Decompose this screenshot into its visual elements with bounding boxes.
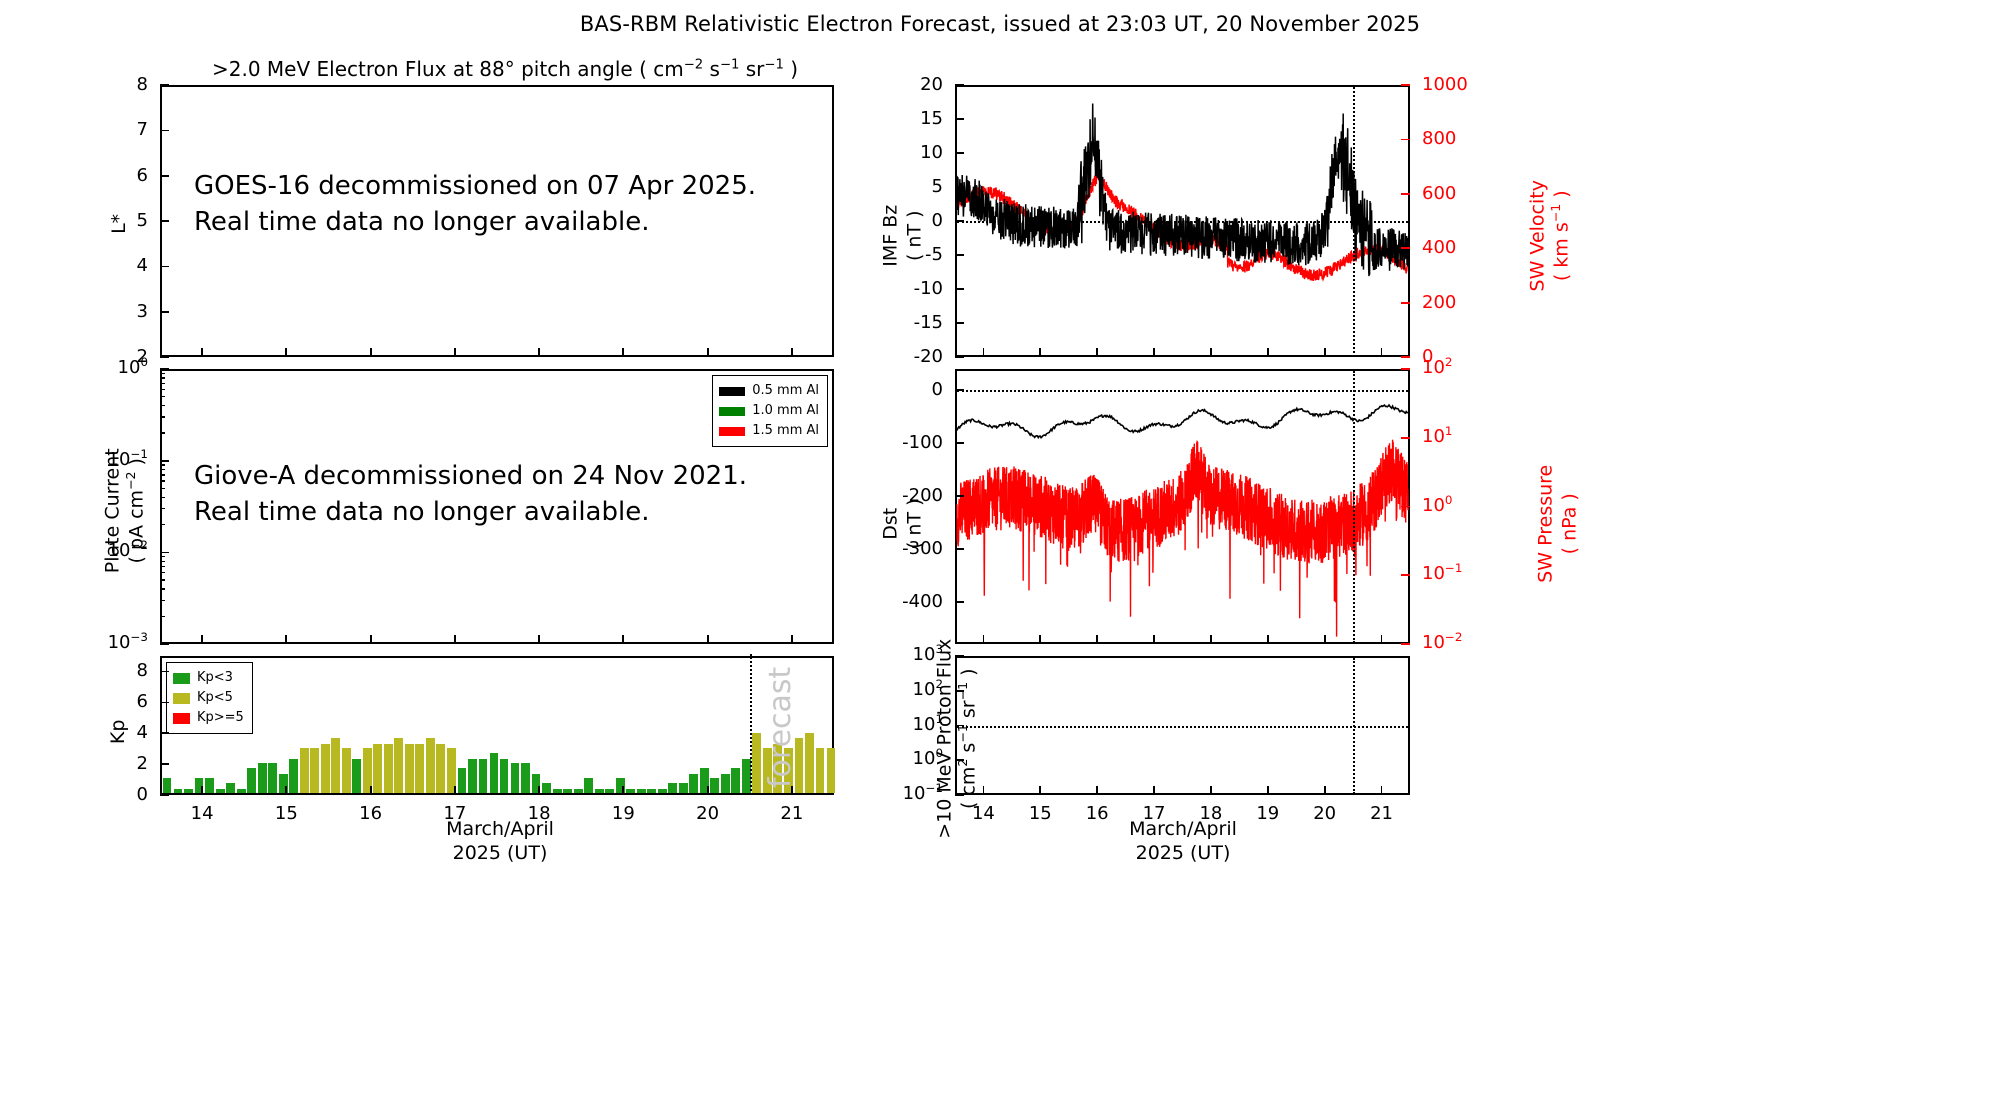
axis-tick-label: -400 xyxy=(902,591,943,612)
axis-tick-label: 19 xyxy=(1256,803,1279,824)
axis-tick xyxy=(622,786,624,795)
kp-bar xyxy=(247,768,256,794)
kp-bar xyxy=(310,748,319,793)
axis-minor-tick xyxy=(160,566,165,567)
axis-tick xyxy=(1401,506,1410,508)
axis-tick-label: 800 xyxy=(1422,128,1456,149)
legend-label: 1.0 mm Al xyxy=(752,401,819,421)
axis-tick-label: 102 xyxy=(913,679,943,700)
axis-tick xyxy=(983,348,985,357)
legend-swatch-icon xyxy=(719,387,745,396)
forecast-watermark: forecast xyxy=(763,667,798,788)
axis-tick xyxy=(160,460,169,462)
axis-tick xyxy=(955,601,964,603)
axis-tick-label: 10−3 xyxy=(108,632,148,653)
axis-tick xyxy=(1267,635,1269,644)
kp-bar xyxy=(458,768,467,794)
forecast-divider xyxy=(1353,658,1355,794)
axis-tick-label: -300 xyxy=(902,538,943,559)
axis-minor-tick xyxy=(160,524,165,525)
legend-label: 1.5 mm Al xyxy=(752,421,819,441)
axis-tick-label: 16 xyxy=(1086,803,1109,824)
axis-tick xyxy=(955,356,964,358)
legend-swatch-icon xyxy=(719,427,745,436)
axis-tick xyxy=(983,635,985,644)
forecast-divider xyxy=(1353,371,1355,643)
axis-tick xyxy=(1210,635,1212,644)
axis-tick-label: -100 xyxy=(902,432,943,453)
axis-tick-label: 21 xyxy=(780,803,803,824)
axis-tick xyxy=(160,763,169,765)
kp-bar xyxy=(300,748,309,793)
axis-tick-label: -15 xyxy=(914,312,943,333)
kp-bar xyxy=(352,759,361,794)
axis-minor-tick xyxy=(160,561,165,562)
left-xaxis-label: March/April2025 (UT) xyxy=(360,818,640,866)
axis-tick xyxy=(160,130,169,132)
axis-tick-label: -10 xyxy=(914,278,943,299)
axis-tick xyxy=(1267,786,1269,795)
axis-tick xyxy=(791,635,793,644)
axis-tick xyxy=(1401,574,1410,576)
axis-tick-label: 400 xyxy=(1422,237,1456,258)
kp-bar xyxy=(679,783,688,794)
axis-minor-tick xyxy=(160,464,165,465)
axis-tick xyxy=(707,786,709,795)
axis-minor-tick xyxy=(160,474,165,475)
axis-tick-label: 4 xyxy=(137,722,148,743)
kp-bar xyxy=(827,748,836,793)
kp-bar xyxy=(268,763,277,793)
kp-bar xyxy=(574,789,583,794)
axis-tick xyxy=(1153,348,1155,357)
axis-tick xyxy=(1267,348,1269,357)
axis-tick xyxy=(160,702,169,704)
kp-bar xyxy=(721,774,730,794)
kp-bar xyxy=(689,774,698,794)
imf-bz-series xyxy=(957,104,1408,277)
axis-minor-tick xyxy=(160,556,165,557)
axis-tick-label: 10 xyxy=(920,142,943,163)
axis-tick-label: 16 xyxy=(359,803,382,824)
axis-minor-tick xyxy=(160,373,165,374)
kp-bar xyxy=(174,789,183,794)
axis-tick xyxy=(538,635,540,644)
axis-tick xyxy=(955,548,964,550)
axis-tick-label: 18 xyxy=(528,803,551,824)
kp-bar xyxy=(605,789,614,794)
axis-tick xyxy=(955,495,964,497)
axis-tick xyxy=(1401,368,1410,370)
axis-tick-label: 10−2 xyxy=(1422,632,1462,653)
axis-tick-label: 0 xyxy=(932,379,943,400)
axis-tick xyxy=(160,84,169,86)
axis-tick xyxy=(955,759,964,761)
axis-tick xyxy=(370,348,372,357)
legend-label: 0.5 mm Al xyxy=(752,381,819,401)
axis-minor-tick xyxy=(160,469,165,470)
electron-flux-panel: GOES-16 decommissioned on 07 Apr 2025.Re… xyxy=(160,85,834,357)
kp-bar xyxy=(710,778,719,793)
axis-tick xyxy=(1210,348,1212,357)
axis-tick xyxy=(1401,643,1410,645)
axis-minor-tick xyxy=(160,405,165,406)
axis-tick xyxy=(160,732,169,734)
kp-bar xyxy=(321,744,330,794)
axis-tick xyxy=(1324,635,1326,644)
kp-bar xyxy=(521,763,530,793)
axis-tick-label: 3 xyxy=(137,301,148,322)
axis-tick xyxy=(285,348,287,357)
kp-bar xyxy=(542,783,551,794)
axis-tick xyxy=(1039,786,1041,795)
axis-tick-label: 7 xyxy=(137,119,148,140)
kp-bar xyxy=(553,789,562,794)
axis-tick xyxy=(160,794,169,796)
axis-tick-label: 15 xyxy=(920,108,943,129)
axis-tick xyxy=(955,442,964,444)
kp-bar xyxy=(237,789,246,794)
axis-tick xyxy=(1039,348,1041,357)
axis-tick xyxy=(160,175,169,177)
axis-minor-tick xyxy=(160,600,165,601)
axis-tick-label: 101 xyxy=(913,714,943,735)
axis-tick xyxy=(160,311,169,313)
legend-item: 0.5 mm Al xyxy=(719,381,819,401)
axis-tick xyxy=(454,348,456,357)
axis-tick-label: 100 xyxy=(913,748,943,769)
kp-bar xyxy=(647,789,656,794)
plate-current-ylabel: Plate Current( pA cm−2 ) xyxy=(101,411,149,611)
kp-bar xyxy=(468,759,477,794)
axis-tick xyxy=(955,322,964,324)
axis-tick-label: -20 xyxy=(914,346,943,367)
sw-pressure-ylabel: SW Pressure( nPa ) xyxy=(1534,424,1582,624)
axis-tick xyxy=(370,635,372,644)
axis-tick-label: 14 xyxy=(972,803,995,824)
axis-tick xyxy=(955,794,964,796)
plate-current-panel: Giove-A decommissioned on 24 Nov 2021.Re… xyxy=(160,369,834,644)
kp-ylabel: Kp xyxy=(107,709,131,755)
axis-tick-label: 10−2 xyxy=(108,540,148,561)
axis-tick-label: 20 xyxy=(696,803,719,824)
kp-bar xyxy=(816,748,825,793)
kp-bar xyxy=(373,744,382,794)
axis-tick xyxy=(1381,635,1383,644)
kp-bar xyxy=(426,738,435,794)
axis-tick-label: 15 xyxy=(1029,803,1052,824)
axis-tick xyxy=(160,266,169,268)
axis-tick-label: 14 xyxy=(191,803,214,824)
axis-tick xyxy=(955,288,964,290)
forecast-divider xyxy=(750,654,752,795)
kp-bar xyxy=(163,778,172,793)
kp-bar xyxy=(184,789,193,794)
axis-minor-tick xyxy=(160,480,165,481)
axis-tick-label: 6 xyxy=(137,165,148,186)
axis-tick-label: 10−1 xyxy=(1422,563,1462,584)
axis-tick-label: 10−1 xyxy=(108,449,148,470)
axis-minor-tick xyxy=(160,389,165,390)
axis-tick xyxy=(955,152,964,154)
axis-tick-label: 10−1 xyxy=(903,783,943,804)
electron-flux-message: GOES-16 decommissioned on 07 Apr 2025.Re… xyxy=(194,169,756,241)
axis-tick xyxy=(1096,348,1098,357)
zero-line xyxy=(957,221,1408,223)
axis-tick xyxy=(201,786,203,795)
axis-tick xyxy=(1153,786,1155,795)
kp-bar xyxy=(205,778,214,793)
legend-item: 1.5 mm Al xyxy=(719,421,819,441)
axis-minor-tick xyxy=(160,416,165,417)
axis-minor-tick xyxy=(160,432,165,433)
axis-minor-tick xyxy=(160,579,165,580)
sw-pressure-series xyxy=(957,440,1408,637)
axis-tick-label: 101 xyxy=(1422,426,1452,447)
legend-swatch-icon xyxy=(719,407,745,416)
axis-tick xyxy=(791,348,793,357)
axis-tick-label: 19 xyxy=(612,803,635,824)
kp-bar xyxy=(289,759,298,794)
axis-tick xyxy=(201,348,203,357)
kp-bar xyxy=(658,789,667,794)
axis-tick xyxy=(454,635,456,644)
kp-bar xyxy=(226,783,235,794)
axis-tick xyxy=(1401,139,1410,141)
electron-flux-ylabel: L* xyxy=(108,204,132,244)
axis-tick xyxy=(1039,635,1041,644)
kp-bar xyxy=(216,789,225,794)
axis-tick xyxy=(1096,786,1098,795)
axis-tick-label: 8 xyxy=(137,660,148,681)
axis-minor-tick xyxy=(160,588,165,589)
axis-tick-label: 0 xyxy=(932,210,943,231)
axis-tick-label: 17 xyxy=(1143,803,1166,824)
axis-tick xyxy=(1381,348,1383,357)
axis-tick-label: 600 xyxy=(1422,183,1456,204)
axis-tick-label: 21 xyxy=(1370,803,1393,824)
dst-series xyxy=(957,405,1408,438)
kp-bar xyxy=(563,789,572,794)
axis-tick xyxy=(707,635,709,644)
electron-flux-subtitle: >2.0 MeV Electron Flux at 88° pitch angl… xyxy=(212,57,798,81)
axis-tick-label: 2 xyxy=(137,753,148,774)
axis-minor-tick xyxy=(160,497,165,498)
axis-tick xyxy=(454,786,456,795)
axis-tick-label: 103 xyxy=(913,644,943,665)
axis-tick xyxy=(160,368,169,370)
axis-tick-label: 6 xyxy=(137,691,148,712)
axis-tick xyxy=(538,348,540,357)
kp-bar xyxy=(342,748,351,793)
kp-bar xyxy=(258,763,267,793)
axis-tick xyxy=(955,655,964,657)
axis-tick xyxy=(285,635,287,644)
axis-tick xyxy=(1401,84,1410,86)
axis-tick-label: 102 xyxy=(1422,357,1452,378)
axis-minor-tick xyxy=(160,488,165,489)
kp-bar xyxy=(415,744,424,794)
kp-bar xyxy=(584,778,593,793)
axis-tick xyxy=(1401,302,1410,304)
axis-tick xyxy=(955,118,964,120)
sw-velocity-ylabel: SW Velocity( km s−1 ) xyxy=(1526,141,1574,331)
kp-bar xyxy=(384,744,393,794)
axis-tick xyxy=(1153,635,1155,644)
kp-bar xyxy=(752,733,761,793)
axis-tick xyxy=(955,690,964,692)
axis-tick xyxy=(955,186,964,188)
axis-tick xyxy=(1324,348,1326,357)
kp-bar xyxy=(490,753,499,794)
axis-tick xyxy=(622,348,624,357)
axis-tick-label: -200 xyxy=(902,485,943,506)
axis-tick xyxy=(1401,356,1410,358)
axis-tick xyxy=(1381,786,1383,795)
kp-bar xyxy=(394,738,403,794)
kp-bar xyxy=(436,744,445,794)
axis-tick-label: 15 xyxy=(275,803,298,824)
axis-minor-tick xyxy=(160,616,165,617)
axis-tick xyxy=(1401,247,1410,249)
axis-tick-label: 17 xyxy=(443,803,466,824)
kp-bar xyxy=(668,783,677,794)
axis-tick xyxy=(538,786,540,795)
axis-tick xyxy=(160,356,169,358)
axis-minor-tick xyxy=(160,572,165,573)
axis-tick xyxy=(622,635,624,644)
axis-tick xyxy=(791,786,793,795)
axis-tick-label: 0 xyxy=(137,784,148,805)
axis-tick-label: 1000 xyxy=(1422,74,1468,95)
zero-line xyxy=(957,390,1408,392)
axis-tick xyxy=(1324,786,1326,795)
axis-tick-label: 8 xyxy=(137,74,148,95)
axis-tick-label: 200 xyxy=(1422,292,1456,313)
threshold-line xyxy=(957,726,1408,728)
kp-bar xyxy=(731,768,740,794)
legend-item: 1.0 mm Al xyxy=(719,401,819,421)
axis-tick-label: 4 xyxy=(137,255,148,276)
axis-tick xyxy=(160,220,169,222)
kp-bar xyxy=(500,759,509,794)
forecast-divider xyxy=(1353,87,1355,357)
kp-bar xyxy=(805,733,814,793)
axis-tick-label: 20 xyxy=(1313,803,1336,824)
kp-bar xyxy=(595,789,604,794)
axis-tick-label: -5 xyxy=(925,244,943,265)
axis-minor-tick xyxy=(160,383,165,384)
axis-tick-label: 18 xyxy=(1199,803,1222,824)
kp-bar xyxy=(479,759,488,794)
axis-tick xyxy=(955,84,964,86)
axis-tick-label: 100 xyxy=(118,357,148,378)
right-xaxis-label: March/April2025 (UT) xyxy=(1043,818,1323,866)
kp-panel: Kp<3 Kp<5 Kp>=5 forecast xyxy=(160,656,834,795)
axis-minor-tick xyxy=(160,396,165,397)
axis-tick-label: 20 xyxy=(920,74,943,95)
axis-tick xyxy=(285,786,287,795)
axis-tick xyxy=(160,671,169,673)
axis-tick xyxy=(1401,437,1410,439)
axis-tick xyxy=(1401,193,1410,195)
axis-tick-label: 5 xyxy=(137,210,148,231)
dst-plot xyxy=(957,371,1408,642)
axis-tick xyxy=(1210,786,1212,795)
dst-panel xyxy=(955,369,1410,644)
axis-minor-tick xyxy=(160,508,165,509)
axis-tick xyxy=(201,635,203,644)
axis-tick-label: 100 xyxy=(1422,495,1452,516)
page-title: BAS-RBM Relativistic Electron Forecast, … xyxy=(0,12,2000,36)
axis-tick xyxy=(955,254,964,256)
kp-bar xyxy=(331,738,340,794)
axis-tick xyxy=(160,552,169,554)
axis-minor-tick xyxy=(160,377,165,378)
kp-bar xyxy=(626,789,635,794)
axis-tick xyxy=(370,786,372,795)
axis-tick xyxy=(707,348,709,357)
kp-bar xyxy=(405,744,414,794)
axis-tick xyxy=(983,786,985,795)
kp-bar xyxy=(637,789,646,794)
plate-current-message: Giove-A decommissioned on 24 Nov 2021.Re… xyxy=(194,459,747,531)
axis-tick xyxy=(1096,635,1098,644)
kp-bar xyxy=(511,763,520,793)
axis-tick-label: 5 xyxy=(932,176,943,197)
al-thickness-legend: 0.5 mm Al 1.0 mm Al 1.5 mm Al xyxy=(712,375,828,447)
axis-tick xyxy=(160,643,169,645)
